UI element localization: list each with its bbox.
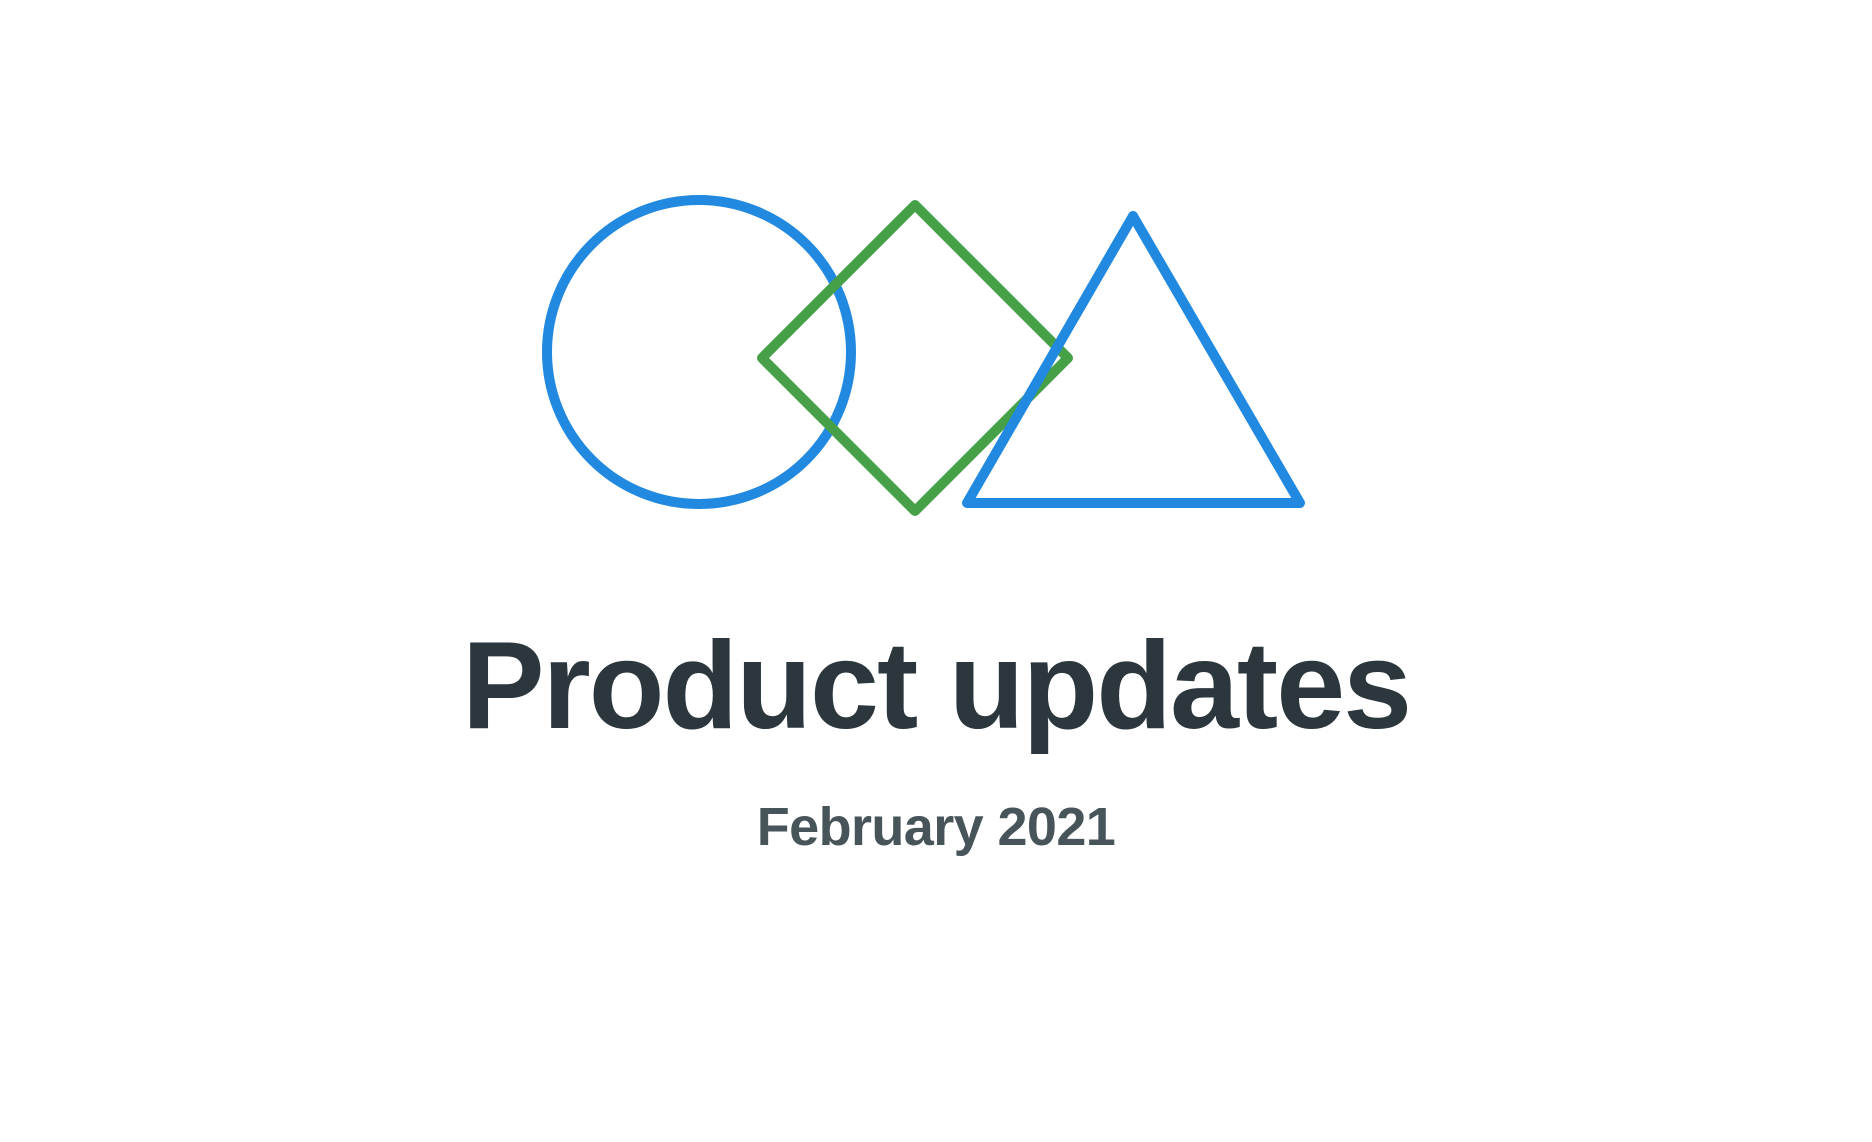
slide-canvas: Product updates February 2021 [0,0,1872,1142]
title-block: Product updates February 2021 [0,620,1872,857]
triangle-shape [967,216,1300,503]
page-subtitle: February 2021 [0,798,1872,857]
page-title: Product updates [0,620,1872,754]
hero-graphic [0,0,1872,620]
shapes-illustration [0,0,1872,620]
circle-shape [547,200,851,504]
